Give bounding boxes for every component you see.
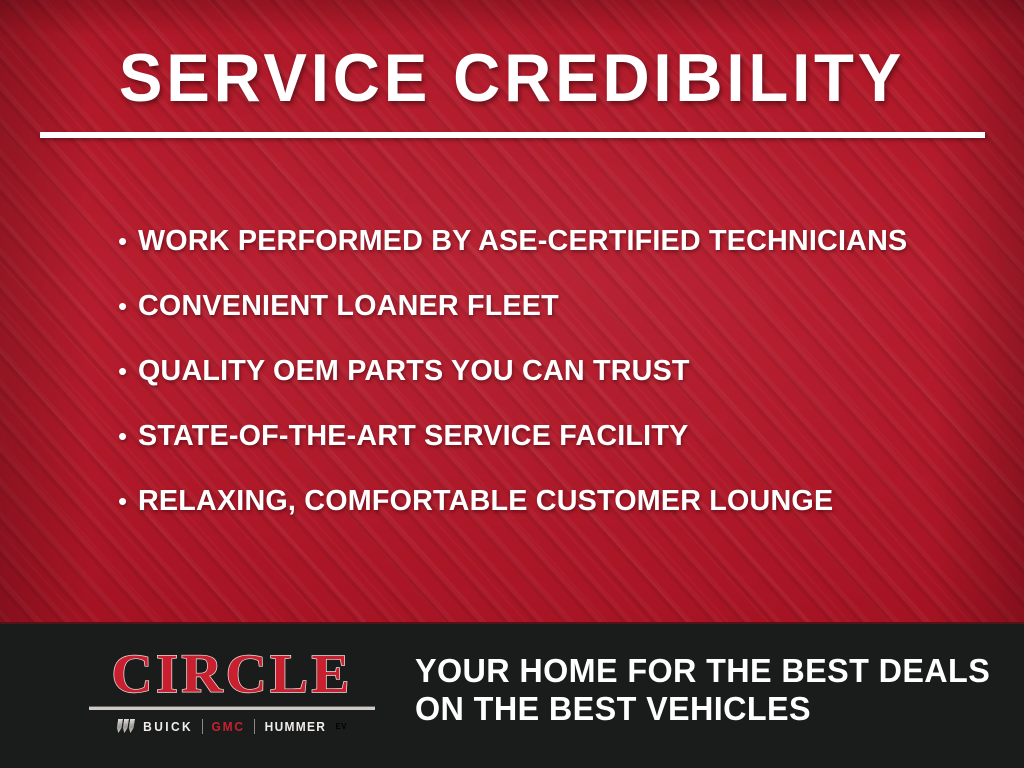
list-item-label: WORK PERFORMED BY ASE-CERTIFIED TECHNICI…	[138, 224, 907, 258]
brand-separator	[254, 719, 255, 734]
bullet-dot-icon: •	[118, 354, 138, 388]
list-item-label: QUALITY OEM PARTS YOU CAN TRUST	[138, 354, 690, 388]
footer-tagline-line-2: ON THE BEST VEHICLES	[415, 690, 990, 728]
buick-tri-shield-icon	[117, 719, 134, 733]
bullet-dot-icon: •	[118, 289, 138, 323]
list-item: • WORK PERFORMED BY ASE-CERTIFIED TECHNI…	[118, 224, 978, 289]
footer-top-divider	[0, 622, 1024, 624]
service-credibility-slide: SERVICE CREDIBILITY • WORK PERFORMED BY …	[0, 0, 1024, 768]
page-title: SERVICE CREDIBILITY	[20, 40, 1003, 116]
brand-label-buick: BUICK	[143, 719, 193, 734]
brand-separator	[202, 719, 203, 734]
dealer-logo-wordmark: CIRCLE	[82, 646, 382, 702]
brand-strip: BUICK GMC HUMMER EV	[88, 717, 376, 735]
list-item-label: STATE-OF-THE-ART SERVICE FACILITY	[138, 419, 688, 453]
list-item-label: CONVENIENT LOANER FLEET	[138, 289, 559, 323]
bullet-dot-icon: •	[118, 224, 138, 258]
dealer-logo-rule	[89, 706, 375, 710]
list-item-label: RELAXING, COMFORTABLE CUSTOMER LOUNGE	[138, 484, 833, 518]
brand-label-hummer: HUMMER	[264, 719, 326, 734]
brand-label-hummer-ev-suffix: EV	[335, 722, 346, 731]
list-item: • CONVENIENT LOANER FLEET	[118, 289, 978, 354]
dealer-logo: CIRCLE BUICK GMC HUMMER EV	[88, 646, 376, 735]
brand-label-gmc: GMC	[212, 719, 245, 734]
list-item: • RELAXING, COMFORTABLE CUSTOMER LOUNGE	[118, 484, 978, 549]
bullet-dot-icon: •	[118, 484, 138, 518]
list-item: • QUALITY OEM PARTS YOU CAN TRUST	[118, 354, 978, 419]
title-underline-rule	[40, 132, 985, 138]
footer-tagline-line-1: YOUR HOME FOR THE BEST DEALS	[415, 652, 990, 690]
benefits-list: • WORK PERFORMED BY ASE-CERTIFIED TECHNI…	[118, 224, 978, 549]
bullet-dot-icon: •	[118, 419, 138, 453]
footer-tagline: YOUR HOME FOR THE BEST DEALS ON THE BEST…	[415, 652, 990, 728]
list-item: • STATE-OF-THE-ART SERVICE FACILITY	[118, 419, 978, 484]
